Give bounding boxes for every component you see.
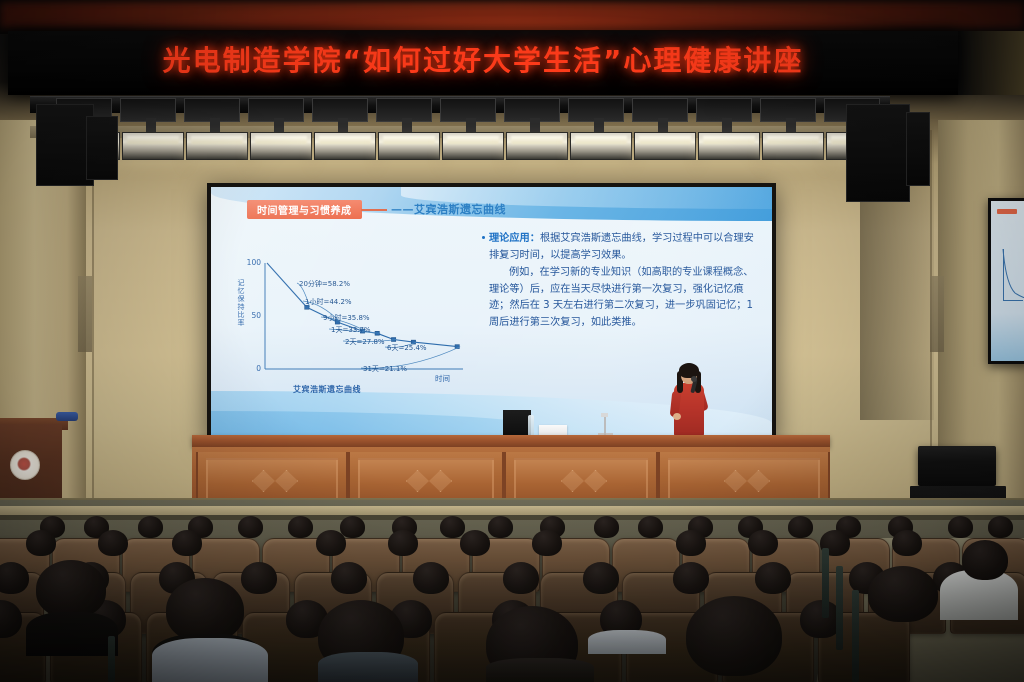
chart-annotation-2: 9小时=35.8%: [323, 313, 370, 323]
stage-edge-rail: [0, 506, 1024, 515]
audience-member-shoulders: [318, 652, 418, 682]
seat-row-divider: [822, 548, 829, 618]
audience-member-head: [460, 530, 490, 556]
lecture-hall-photo: 光电制造学院“如何过好大学生活”心理健康讲座 时间管理与习惯养成 ——艾宾浩斯遗…: [0, 0, 1024, 682]
banner-right-wall: [958, 31, 1024, 95]
chart-x-axis-label: 时间: [435, 373, 450, 384]
audience-member-shoulders: [486, 658, 594, 682]
audience-member-shoulders: [152, 638, 268, 682]
gooseneck-microphone: [604, 416, 606, 436]
audience-member-head: [686, 596, 782, 676]
audience-member-head: [413, 562, 449, 594]
handheld-microphone-head: [691, 376, 697, 382]
stage-light-7: [506, 132, 568, 160]
audience-member-head: [748, 530, 778, 556]
stage-light-6: [442, 132, 504, 160]
school-emblem-mark: [17, 457, 31, 471]
audience-member-head: [988, 516, 1013, 538]
loudspeaker-top: [918, 446, 996, 486]
wall-speaker-box-left2: [86, 116, 118, 180]
audience-member-head: [583, 562, 619, 594]
presenter-in-red: [672, 365, 706, 437]
chart-caption: 艾宾浩斯遗忘曲线: [293, 384, 361, 395]
slide-bullet-colon: ：: [530, 233, 540, 244]
audience-member-head: [36, 560, 106, 618]
bullet-icon: [482, 236, 485, 239]
wall-vent-right: [930, 276, 944, 352]
side-display-screen: [991, 201, 1024, 361]
audience-member-head: [166, 578, 244, 642]
audience-member-head: [948, 516, 973, 538]
chart-annotation-1: 1小时=44.2%: [305, 297, 352, 307]
wall-vent-left: [78, 276, 92, 352]
audience-member-head: [488, 516, 513, 538]
audience-member-head: [238, 516, 263, 538]
stage-light-3: [250, 132, 312, 160]
presenter-hair: [679, 363, 699, 378]
slide-bullet-label: 理论应用: [489, 233, 530, 244]
audience-member-head: [788, 516, 813, 538]
seat-row-divider: [852, 590, 859, 682]
audience-member-head: [331, 562, 367, 594]
table-panel-diamond-2: [561, 470, 607, 492]
audience-member-head: [388, 530, 418, 556]
chart-annotation-4: 2天=27.8%: [345, 337, 385, 347]
stage-light-1: [122, 132, 184, 160]
table-equipment-box: [503, 410, 531, 436]
chart-annotation-5: 6天=25.4%: [387, 343, 427, 353]
led-banner: 光电制造学院“如何过好大学生活”心理健康讲座: [8, 31, 958, 95]
slide-paragraph-2: 例如，在学习新的专业知识（如高职的专业课程概念、理论等）后，应在当天尽快进行第一…: [489, 265, 757, 331]
wall-speaker-box-right: [846, 104, 910, 202]
table-panel-diamond-1: [406, 470, 452, 492]
audience-member-head: [532, 530, 562, 556]
ceiling-red-glow: [120, 0, 910, 30]
stage-light-9: [634, 132, 696, 160]
audience-member-shoulders: [26, 612, 118, 656]
side-display: [988, 198, 1024, 364]
table-panel-inner-3: [668, 458, 820, 502]
chart-annotation-0: 20分钟=58.2%: [299, 279, 350, 289]
forgetting-curve-chart: 记忆保持比率 100500 20分钟=58.2%1小时=44.2%9小时=35.…: [235, 251, 471, 399]
slide-title: 时间管理与习惯养成: [247, 200, 362, 219]
audience-member-head: [0, 562, 29, 594]
audience-member-head: [594, 516, 619, 538]
audience-member-head: [892, 530, 922, 556]
audience-member-shoulders: [588, 630, 666, 654]
table-panel-inner-2: [514, 458, 648, 502]
banner-title-text: 光电制造学院“如何过好大学生活”心理健康讲座: [8, 39, 958, 79]
audience-member-head: [138, 516, 163, 538]
audience-member-head: [26, 530, 56, 556]
side-display-curve: [1001, 247, 1024, 307]
wall-speaker-box-right2: [906, 112, 930, 186]
audience-member-head: [172, 530, 202, 556]
slide-body-text: 理论应用：根据艾宾浩斯遗忘曲线，学习过程中可以合理安排复习时间，以提高学习效果。…: [489, 231, 757, 332]
table-panel-diamond-3: [724, 470, 770, 492]
stage-light-11: [762, 132, 824, 160]
seat-row-divider: [108, 636, 115, 682]
chart-annotation-3: 1天=33.7%: [331, 325, 371, 335]
table-panel-inner-0: [206, 458, 338, 502]
seat-row-divider: [836, 566, 843, 650]
audience-member-head: [98, 530, 128, 556]
wall-seam-left: [92, 130, 94, 530]
audience-member-head: [288, 516, 313, 538]
audience-member-head: [241, 562, 277, 594]
conference-table-top: [192, 435, 830, 447]
side-display-title-pill: [997, 209, 1017, 214]
presenter-hand: [673, 413, 681, 420]
audience-member-head: [340, 516, 365, 538]
stage-light-4: [314, 132, 376, 160]
audience-member-head: [638, 516, 663, 538]
podium-microphone: [56, 412, 78, 421]
slide-subtitle: ——艾宾浩斯遗忘曲线: [391, 201, 506, 217]
table-panel-diamond-0: [252, 470, 298, 492]
audience-member-head: [440, 516, 465, 538]
stage-light-10: [698, 132, 760, 160]
audience-member-head: [673, 562, 709, 594]
audience-member-head: [316, 530, 346, 556]
slide-title-dash: [361, 209, 387, 211]
chart-y-tick-50: 50: [243, 311, 261, 320]
audience-member-head: [676, 530, 706, 556]
gooseneck-microphone-head: [601, 413, 608, 417]
audience-member-head: [755, 562, 791, 594]
chart-y-tick-0: 0: [243, 364, 261, 373]
stage-light-5: [378, 132, 440, 160]
audience-member-head: [503, 562, 539, 594]
audience-member-head: [868, 566, 938, 622]
chart-y-tick-100: 100: [243, 258, 261, 267]
chart-annotation-6: 31天=21.1%: [363, 364, 407, 374]
table-panel-inner-1: [358, 458, 494, 502]
water-bottle: [528, 415, 534, 437]
stage-light-8: [570, 132, 632, 160]
audience-member-head: [962, 540, 1008, 580]
stage-light-2: [186, 132, 248, 160]
